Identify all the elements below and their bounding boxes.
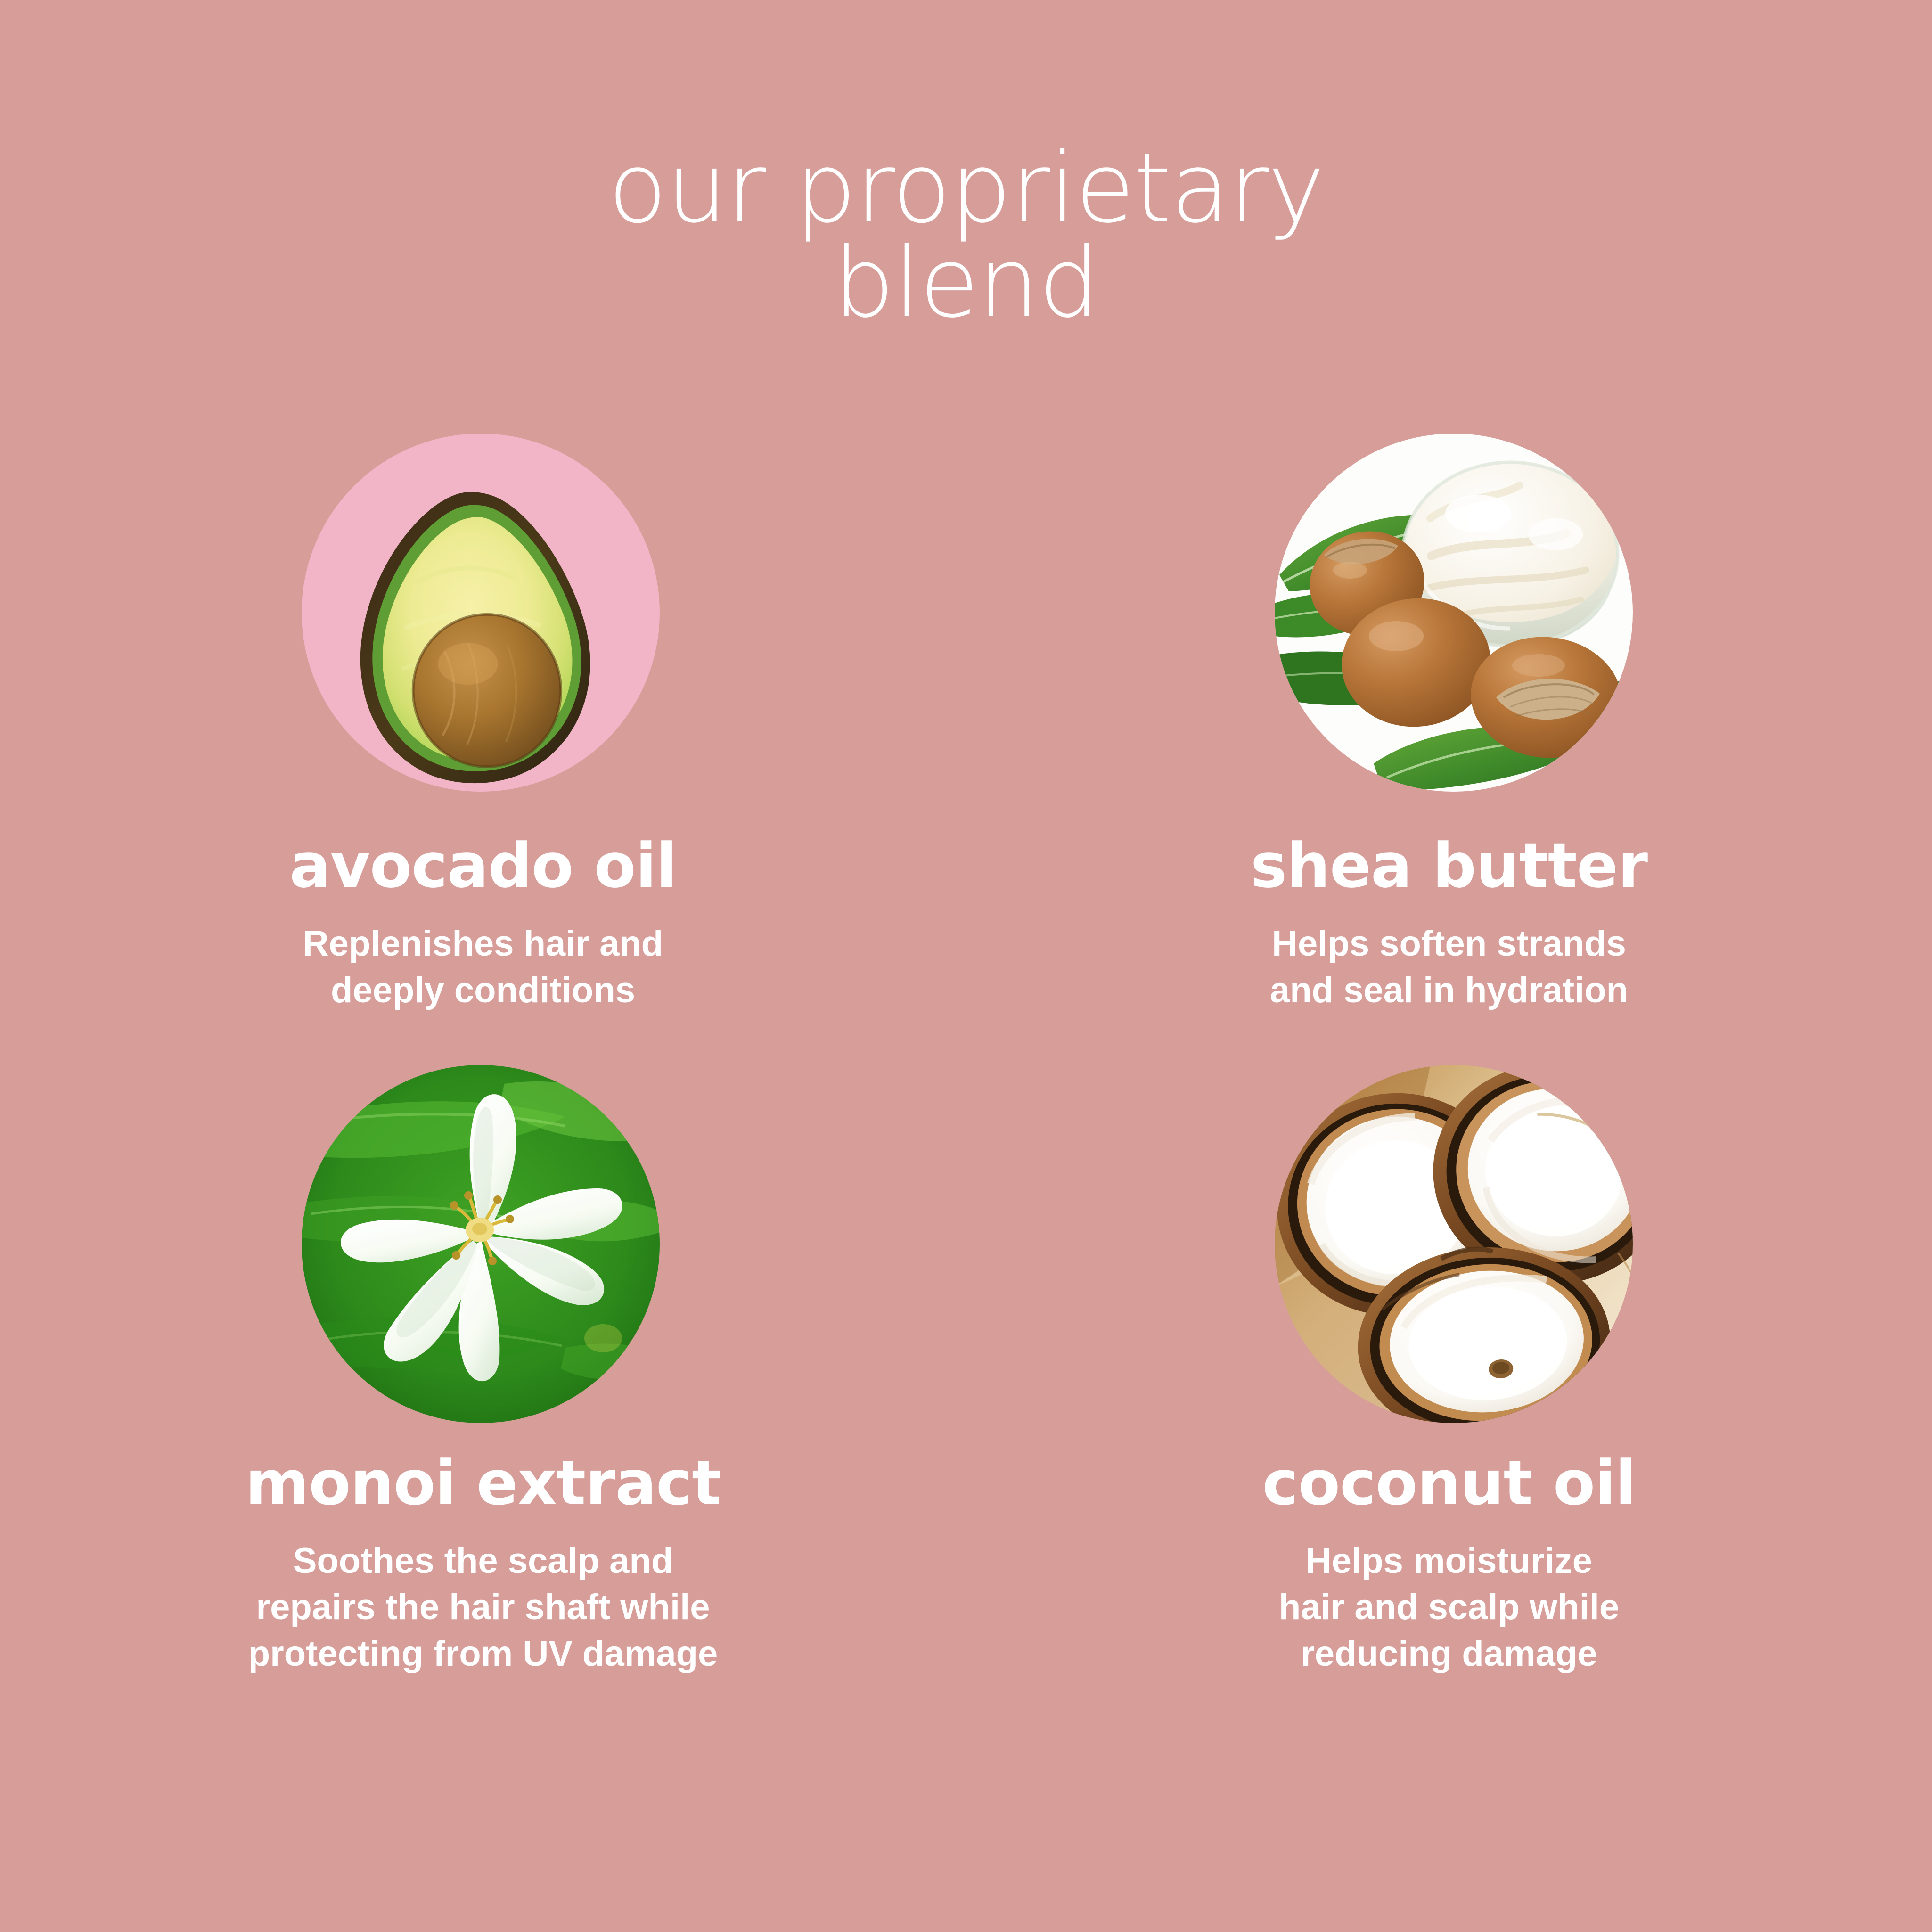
ingredient-description-monoi-extract: Soothes the scalp and repairs the hair s… [248,1538,718,1678]
ingredient-name-avocado-oil: avocado oil [289,835,677,896]
ingredient-description-shea-butter: Helps soften strands and seal in hydrati… [1270,921,1628,1014]
ingredient-card-monoi-extract[interactable]: monoi extract Soothes the scalp and repa… [0,1065,966,1678]
ingredient-card-avocado-oil[interactable]: avocado oil Replenishes hair and deeply … [0,434,966,1014]
coconut-oil-image [1275,1065,1633,1423]
shea-media [1275,434,1633,806]
ingredient-row-2: monoi extract Soothes the scalp and repa… [0,1065,1932,1678]
ingredient-name-coconut-oil: coconut oil [1262,1452,1636,1514]
ingredient-grid: avocado oil Replenishes hair and deeply … [0,434,1932,1678]
monoi-media [302,1065,660,1428]
shea-butter-image [1275,434,1633,792]
avocado-media [302,434,660,806]
ingredient-description-avocado-oil: Replenishes hair and deeply conditions [303,921,663,1014]
ingredient-name-monoi-extract: monoi extract [246,1452,721,1514]
monoi-extract-image [302,1065,660,1423]
ingredient-description-coconut-oil: Helps moisturize hair and scalp while re… [1279,1538,1619,1678]
page-title: our proprietary blend [0,141,1932,331]
page-title-wrapper: our proprietary blend [0,141,1932,331]
ingredient-name-shea-butter: shea butter [1251,835,1647,896]
infographic-canvas: our proprietary blend [0,0,1932,1932]
avocado-image [302,434,660,792]
coconut-media [1275,1065,1633,1428]
ingredient-card-coconut-oil[interactable]: coconut oil Helps moisturize hair and sc… [966,1065,1932,1678]
ingredient-row-1: avocado oil Replenishes hair and deeply … [0,434,1932,1014]
ingredient-card-shea-butter[interactable]: shea butter Helps soften strands and sea… [966,434,1932,1014]
